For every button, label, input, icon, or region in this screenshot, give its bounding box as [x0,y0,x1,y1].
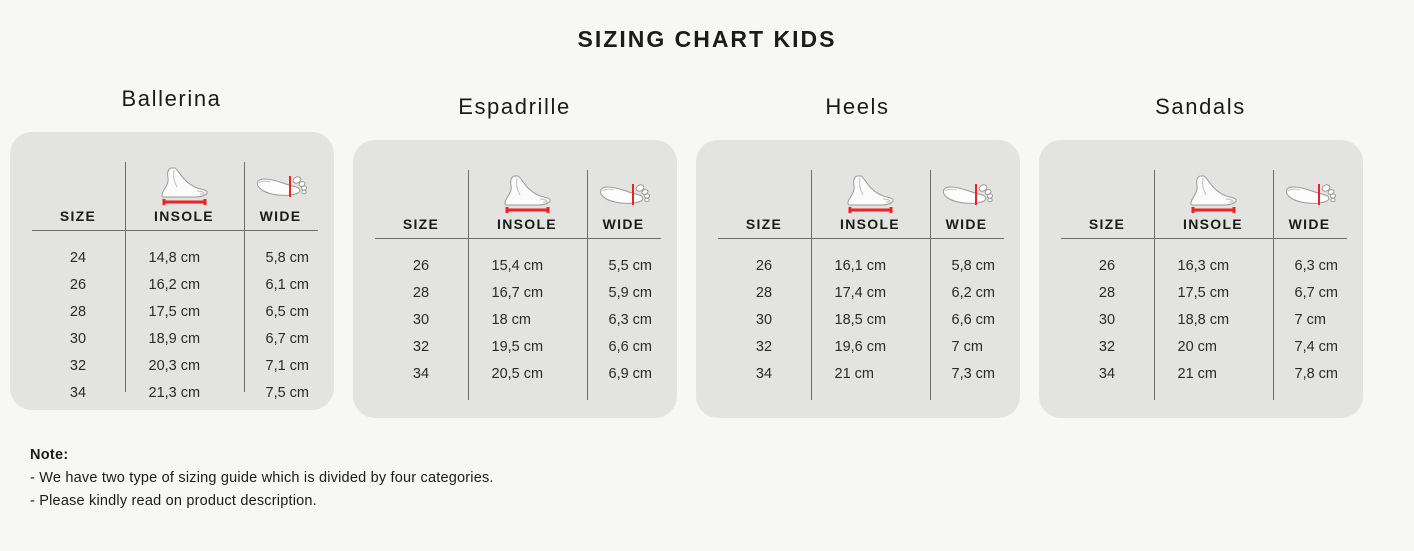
cell-insole: 18 cm [468,312,587,328]
table-row: 26 16,1 cm 5,8 cm [718,252,1004,279]
cell-wide: 5,8 cm [244,250,318,266]
page-title: SIZING CHART KIDS [0,26,1414,53]
cell-size: 26 [375,258,468,274]
cell-wide: 6,5 cm [244,304,318,320]
header-underline [32,230,318,231]
cell-insole: 18,8 cm [1154,312,1273,328]
cell-size: 30 [32,331,125,347]
cell-insole: 18,9 cm [125,331,244,347]
sizing-cards-container: Ballerina SIZE [0,86,1414,418]
cell-insole: 15,4 cm [468,258,587,274]
cell-insole: 16,2 cm [125,277,244,293]
table-row: 26 15,4 cm 5,5 cm [375,252,661,279]
category-title: Ballerina [121,86,221,112]
cell-wide: 7 cm [1273,312,1347,328]
cell-wide: 7,4 cm [1273,339,1347,355]
table-row: 30 18,8 cm 7 cm [1061,306,1347,333]
cell-size: 26 [1061,258,1154,274]
header-cell-insole: INSOLE [1154,164,1273,238]
table-header-row: SIZE INSOLE [32,156,318,230]
cell-wide: 5,8 cm [930,258,1004,274]
cell-insole: 18,5 cm [811,312,930,328]
cell-insole: 21 cm [1154,366,1273,382]
category-card-ballerina: Ballerina SIZE [0,86,343,410]
header-label-size: SIZE [403,216,439,232]
header-cell-wide: WIDE [1273,164,1347,238]
header-cell-insole: INSOLE [125,156,244,230]
cell-wide: 5,9 cm [587,285,661,301]
cell-size: 26 [718,258,811,274]
table-body: 26 16,1 cm 5,8 cm 28 17,4 cm 6,2 cm 30 1… [718,244,1004,418]
foot-top-width-icon [1279,172,1341,216]
header-label-wide: WIDE [946,216,988,232]
header-underline [1061,238,1347,239]
cell-insole: 19,6 cm [811,339,930,355]
cell-wide: 6,6 cm [930,312,1004,328]
foot-top-width-icon [593,172,655,216]
cell-insole: 16,3 cm [1154,258,1273,274]
category-title: Sandals [1155,94,1246,120]
cell-wide: 7,5 cm [244,385,318,401]
table-body: 26 16,3 cm 6,3 cm 28 17,5 cm 6,7 cm 30 1… [1061,244,1347,418]
cell-insole: 17,4 cm [811,285,930,301]
cell-wide: 7 cm [930,339,1004,355]
table-row: 30 18 cm 6,3 cm [375,306,661,333]
table-row: 24 14,8 cm 5,8 cm [32,244,318,271]
category-title: Espadrille [458,94,571,120]
cell-wide: 7,3 cm [930,366,1004,382]
table-row: 34 21 cm 7,8 cm [1061,360,1347,387]
table-row: 34 21,3 cm 7,5 cm [32,379,318,406]
header-underline [375,238,661,239]
cell-size: 28 [1061,285,1154,301]
category-title: Heels [825,94,889,120]
cell-size: 32 [375,339,468,355]
cell-insole: 20,5 cm [468,366,587,382]
header-cell-insole: INSOLE [811,164,930,238]
cell-insole: 16,1 cm [811,258,930,274]
header-label-wide: WIDE [603,216,645,232]
cell-size: 34 [32,385,125,401]
cell-size: 28 [718,285,811,301]
header-label-size: SIZE [746,216,782,232]
note-line-1: - We have two type of sizing guide which… [30,467,494,490]
cell-size: 34 [1061,366,1154,382]
header-underline [718,238,1004,239]
header-cell-size: SIZE [718,164,811,238]
category-card-heels: Heels SIZE [686,86,1029,418]
cell-insole: 14,8 cm [125,250,244,266]
cell-size: 28 [32,304,125,320]
cell-size: 30 [718,312,811,328]
cell-insole: 16,7 cm [468,285,587,301]
table-row: 26 16,3 cm 6,3 cm [1061,252,1347,279]
cell-insole: 20,3 cm [125,358,244,374]
table-row: 28 17,5 cm 6,7 cm [1061,279,1347,306]
cell-wide: 6,6 cm [587,339,661,355]
sizing-table-card: SIZE INSOLE [10,132,334,410]
cell-insole: 17,5 cm [1154,285,1273,301]
sizing-table-card: SIZE INSOLE [1039,140,1363,418]
cell-insole: 19,5 cm [468,339,587,355]
foot-side-length-icon [838,172,902,216]
cell-insole: 17,5 cm [125,304,244,320]
note-section: Note: - We have two type of sizing guide… [30,444,494,513]
header-label-wide: WIDE [1289,216,1331,232]
note-line-2: - Please kindly read on product descript… [30,490,494,513]
cell-wide: 7,8 cm [1273,366,1347,382]
header-label-insole: INSOLE [840,216,900,232]
cell-size: 32 [1061,339,1154,355]
sizing-table: SIZE INSOLE [718,140,1004,418]
cell-wide: 6,1 cm [244,277,318,293]
cell-size: 24 [32,250,125,266]
sizing-table-card: SIZE INSOLE [353,140,677,418]
category-card-espadrille: Espadrille SIZE [343,86,686,418]
foot-top-width-icon [250,164,312,208]
table-row: 32 19,5 cm 6,6 cm [375,333,661,360]
header-label-insole: INSOLE [497,216,557,232]
table-row: 30 18,9 cm 6,7 cm [32,325,318,352]
cell-wide: 7,1 cm [244,358,318,374]
header-label-insole: INSOLE [154,208,214,224]
cell-size: 26 [32,277,125,293]
cell-size: 34 [718,366,811,382]
cell-wide: 6,3 cm [1273,258,1347,274]
foot-side-length-icon [152,164,216,208]
header-label-wide: WIDE [260,208,302,224]
foot-side-length-icon [495,172,559,216]
category-card-sandals: Sandals SIZE [1029,86,1372,418]
table-body: 26 15,4 cm 5,5 cm 28 16,7 cm 5,9 cm 30 1… [375,244,661,418]
table-row: 28 16,7 cm 5,9 cm [375,279,661,306]
sizing-table: SIZE INSOLE [375,140,661,418]
table-header-row: SIZE INSOLE [1061,164,1347,238]
cell-insole: 21 cm [811,366,930,382]
cell-insole: 20 cm [1154,339,1273,355]
cell-size: 32 [718,339,811,355]
cell-insole: 21,3 cm [125,385,244,401]
cell-size: 32 [32,358,125,374]
table-header-row: SIZE INSOLE [718,164,1004,238]
table-row: 34 21 cm 7,3 cm [718,360,1004,387]
table-row: 32 19,6 cm 7 cm [718,333,1004,360]
table-header-row: SIZE INSOLE [375,164,661,238]
header-label-size: SIZE [1089,216,1125,232]
header-cell-insole: INSOLE [468,164,587,238]
cell-wide: 6,7 cm [1273,285,1347,301]
table-row: 26 16,2 cm 6,1 cm [32,271,318,298]
cell-wide: 6,9 cm [587,366,661,382]
sizing-table: SIZE INSOLE [1061,140,1347,418]
table-row: 32 20 cm 7,4 cm [1061,333,1347,360]
table-row: 32 20,3 cm 7,1 cm [32,352,318,379]
table-row: 28 17,5 cm 6,5 cm [32,298,318,325]
header-label-insole: INSOLE [1183,216,1243,232]
cell-wide: 6,2 cm [930,285,1004,301]
header-cell-wide: WIDE [930,164,1004,238]
cell-size: 30 [375,312,468,328]
header-cell-size: SIZE [1061,164,1154,238]
header-cell-wide: WIDE [244,156,318,230]
cell-wide: 6,3 cm [587,312,661,328]
table-row: 34 20,5 cm 6,9 cm [375,360,661,387]
table-row: 30 18,5 cm 6,6 cm [718,306,1004,333]
table-body: 24 14,8 cm 5,8 cm 26 16,2 cm 6,1 cm 28 1… [32,236,318,410]
table-row: 28 17,4 cm 6,2 cm [718,279,1004,306]
header-cell-wide: WIDE [587,164,661,238]
header-cell-size: SIZE [375,164,468,238]
cell-size: 34 [375,366,468,382]
cell-wide: 6,7 cm [244,331,318,347]
note-heading: Note: [30,444,494,467]
cell-size: 28 [375,285,468,301]
header-cell-size: SIZE [32,156,125,230]
sizing-table-card: SIZE INSOLE [696,140,1020,418]
foot-top-width-icon [936,172,998,216]
header-label-size: SIZE [60,208,96,224]
cell-size: 30 [1061,312,1154,328]
foot-side-length-icon [1181,172,1245,216]
sizing-table: SIZE INSOLE [32,132,318,410]
cell-wide: 5,5 cm [587,258,661,274]
